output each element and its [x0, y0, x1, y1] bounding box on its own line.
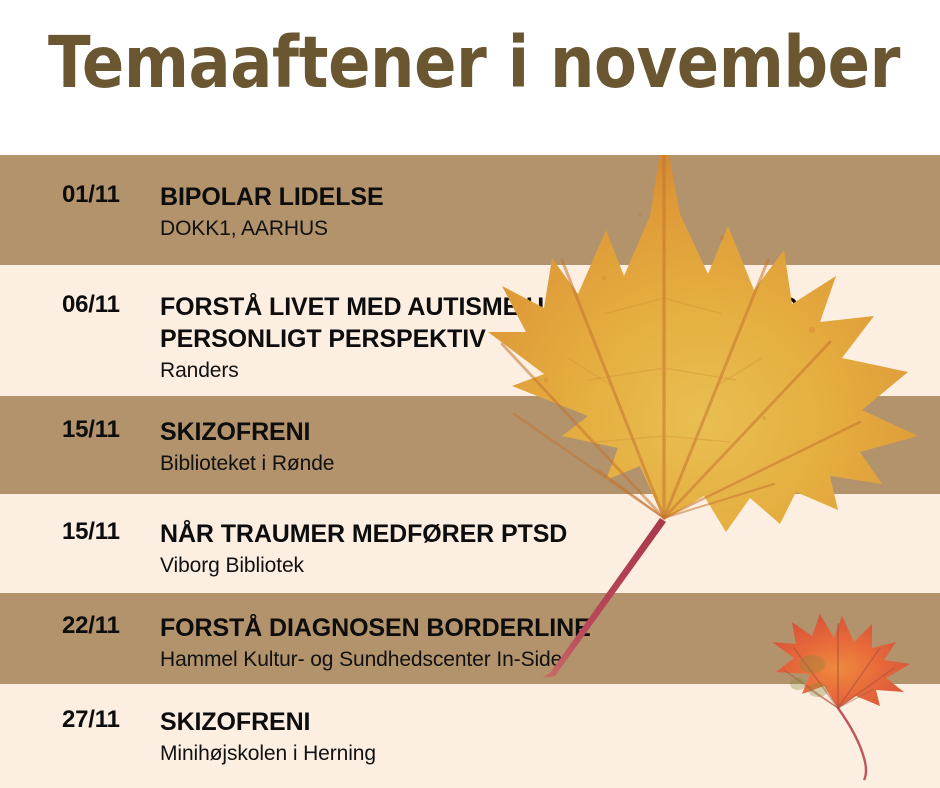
- event-date: 27/11: [0, 706, 160, 734]
- event-row: 22/11 FORSTÅ DIAGNOSEN BORDERLINE Hammel…: [0, 593, 940, 684]
- event-row: 15/11 SKIZOFRENI Biblioteket i Rønde: [0, 396, 940, 494]
- event-details: FORSTÅ DIAGNOSEN BORDERLINE Hammel Kultu…: [160, 612, 940, 673]
- event-schedule-list: 01/11 BIPOLAR LIDELSE DOKK1, AARHUS 06/1…: [0, 155, 940, 788]
- event-title: SKIZOFRENI: [160, 416, 924, 448]
- event-venue: Hammel Kultur- og Sundhedscenter In-Side: [160, 646, 924, 673]
- event-title: NÅR TRAUMER MEDFØRER PTSD: [160, 518, 924, 550]
- event-venue: DOKK1, AARHUS: [160, 215, 924, 242]
- event-title: FORSTÅ DIAGNOSEN BORDERLINE: [160, 612, 924, 644]
- event-details: BIPOLAR LIDELSE DOKK1, AARHUS: [160, 181, 940, 242]
- page-title: Temaaftener i november: [48, 27, 900, 98]
- event-details: SKIZOFRENI Biblioteket i Rønde: [160, 416, 940, 477]
- event-details: SKIZOFRENI Minihøjskolen i Herning: [160, 706, 940, 767]
- event-venue: Viborg Bibliotek: [160, 552, 924, 579]
- event-row: 15/11 NÅR TRAUMER MEDFØRER PTSD Viborg B…: [0, 494, 940, 593]
- event-title: SKIZOFRENI: [160, 706, 924, 738]
- event-row: 27/11 SKIZOFRENI Minihøjskolen i Herning: [0, 684, 940, 788]
- event-date: 15/11: [0, 518, 160, 546]
- event-venue: Minihøjskolen i Herning: [160, 740, 924, 767]
- event-date: 15/11: [0, 416, 160, 444]
- poster: Temaaftener i november 01/11 BIPOLAR LID…: [0, 0, 940, 788]
- event-date: 22/11: [0, 612, 160, 640]
- event-title: BIPOLAR LIDELSE: [160, 181, 924, 213]
- event-venue: Biblioteket i Rønde: [160, 450, 924, 477]
- poster-header: Temaaftener i november: [0, 0, 940, 155]
- event-venue: Randers: [160, 357, 924, 384]
- event-row: 01/11 BIPOLAR LIDELSE DOKK1, AARHUS: [0, 155, 940, 265]
- event-details: NÅR TRAUMER MEDFØRER PTSD Viborg Bibliot…: [160, 518, 940, 579]
- event-row: 06/11 FORSTÅ LIVET MED AUTISME UD FRA ET…: [0, 265, 940, 396]
- event-title: FORSTÅ LIVET MED AUTISME UD FRA ET FAGLI…: [160, 291, 924, 355]
- event-date: 06/11: [0, 291, 160, 319]
- event-details: FORSTÅ LIVET MED AUTISME UD FRA ET FAGLI…: [160, 291, 940, 384]
- event-date: 01/11: [0, 181, 160, 209]
